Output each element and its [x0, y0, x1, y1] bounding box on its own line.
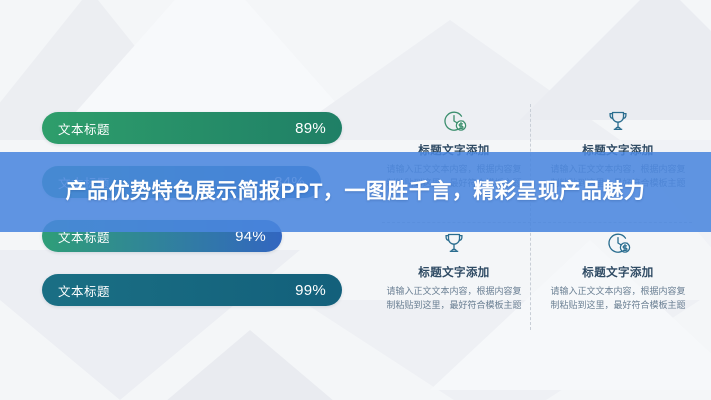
background-polygon	[60, 0, 360, 130]
feature-title: 标题文字添加	[542, 264, 694, 280]
feature-body: 请输入正文文本内容，根据内容复制粘贴到这里，最好符合模板主题	[378, 285, 530, 313]
progress-bar-value: 89%	[295, 120, 326, 137]
feature-item: 标题文字添加 请输入正文文本内容，根据内容复制粘贴到这里，最好符合模板主题	[378, 226, 530, 313]
progress-bar: 文本标题 89%	[42, 112, 342, 144]
progress-bar-label: 文本标题	[58, 281, 110, 300]
feature-item: 标题文字添加 请输入正文文本内容，根据内容复制粘贴到这里，最好符合模板主题	[542, 226, 694, 313]
progress-bar: 文本标题 99%	[42, 274, 342, 306]
progress-bar-value: 99%	[295, 282, 326, 299]
page-title: 产品优势特色展示简报PPT，一图胜千言，精彩呈现产品魅力	[36, 178, 676, 206]
slide-canvas: 文本标题 89% 文本标题 84% 文本标题 94% 文本标题 99%	[0, 0, 711, 400]
background-polygon	[120, 330, 380, 400]
trophy-icon	[542, 104, 694, 138]
background-polygon	[520, 0, 711, 120]
progress-bar-row: 文本标题 99%	[42, 274, 342, 306]
progress-bar-label: 文本标题	[58, 119, 110, 138]
title-band-text-wrapper: 产品优势特色展示简报PPT，一图胜千言，精彩呈现产品魅力	[0, 152, 711, 232]
feature-title: 标题文字添加	[378, 264, 530, 280]
progress-bar-row: 文本标题 89%	[42, 112, 342, 144]
feature-body: 请输入正文文本内容，根据内容复制粘贴到这里，最好符合模板主题	[542, 285, 694, 313]
clock-dollar-icon	[378, 104, 530, 138]
